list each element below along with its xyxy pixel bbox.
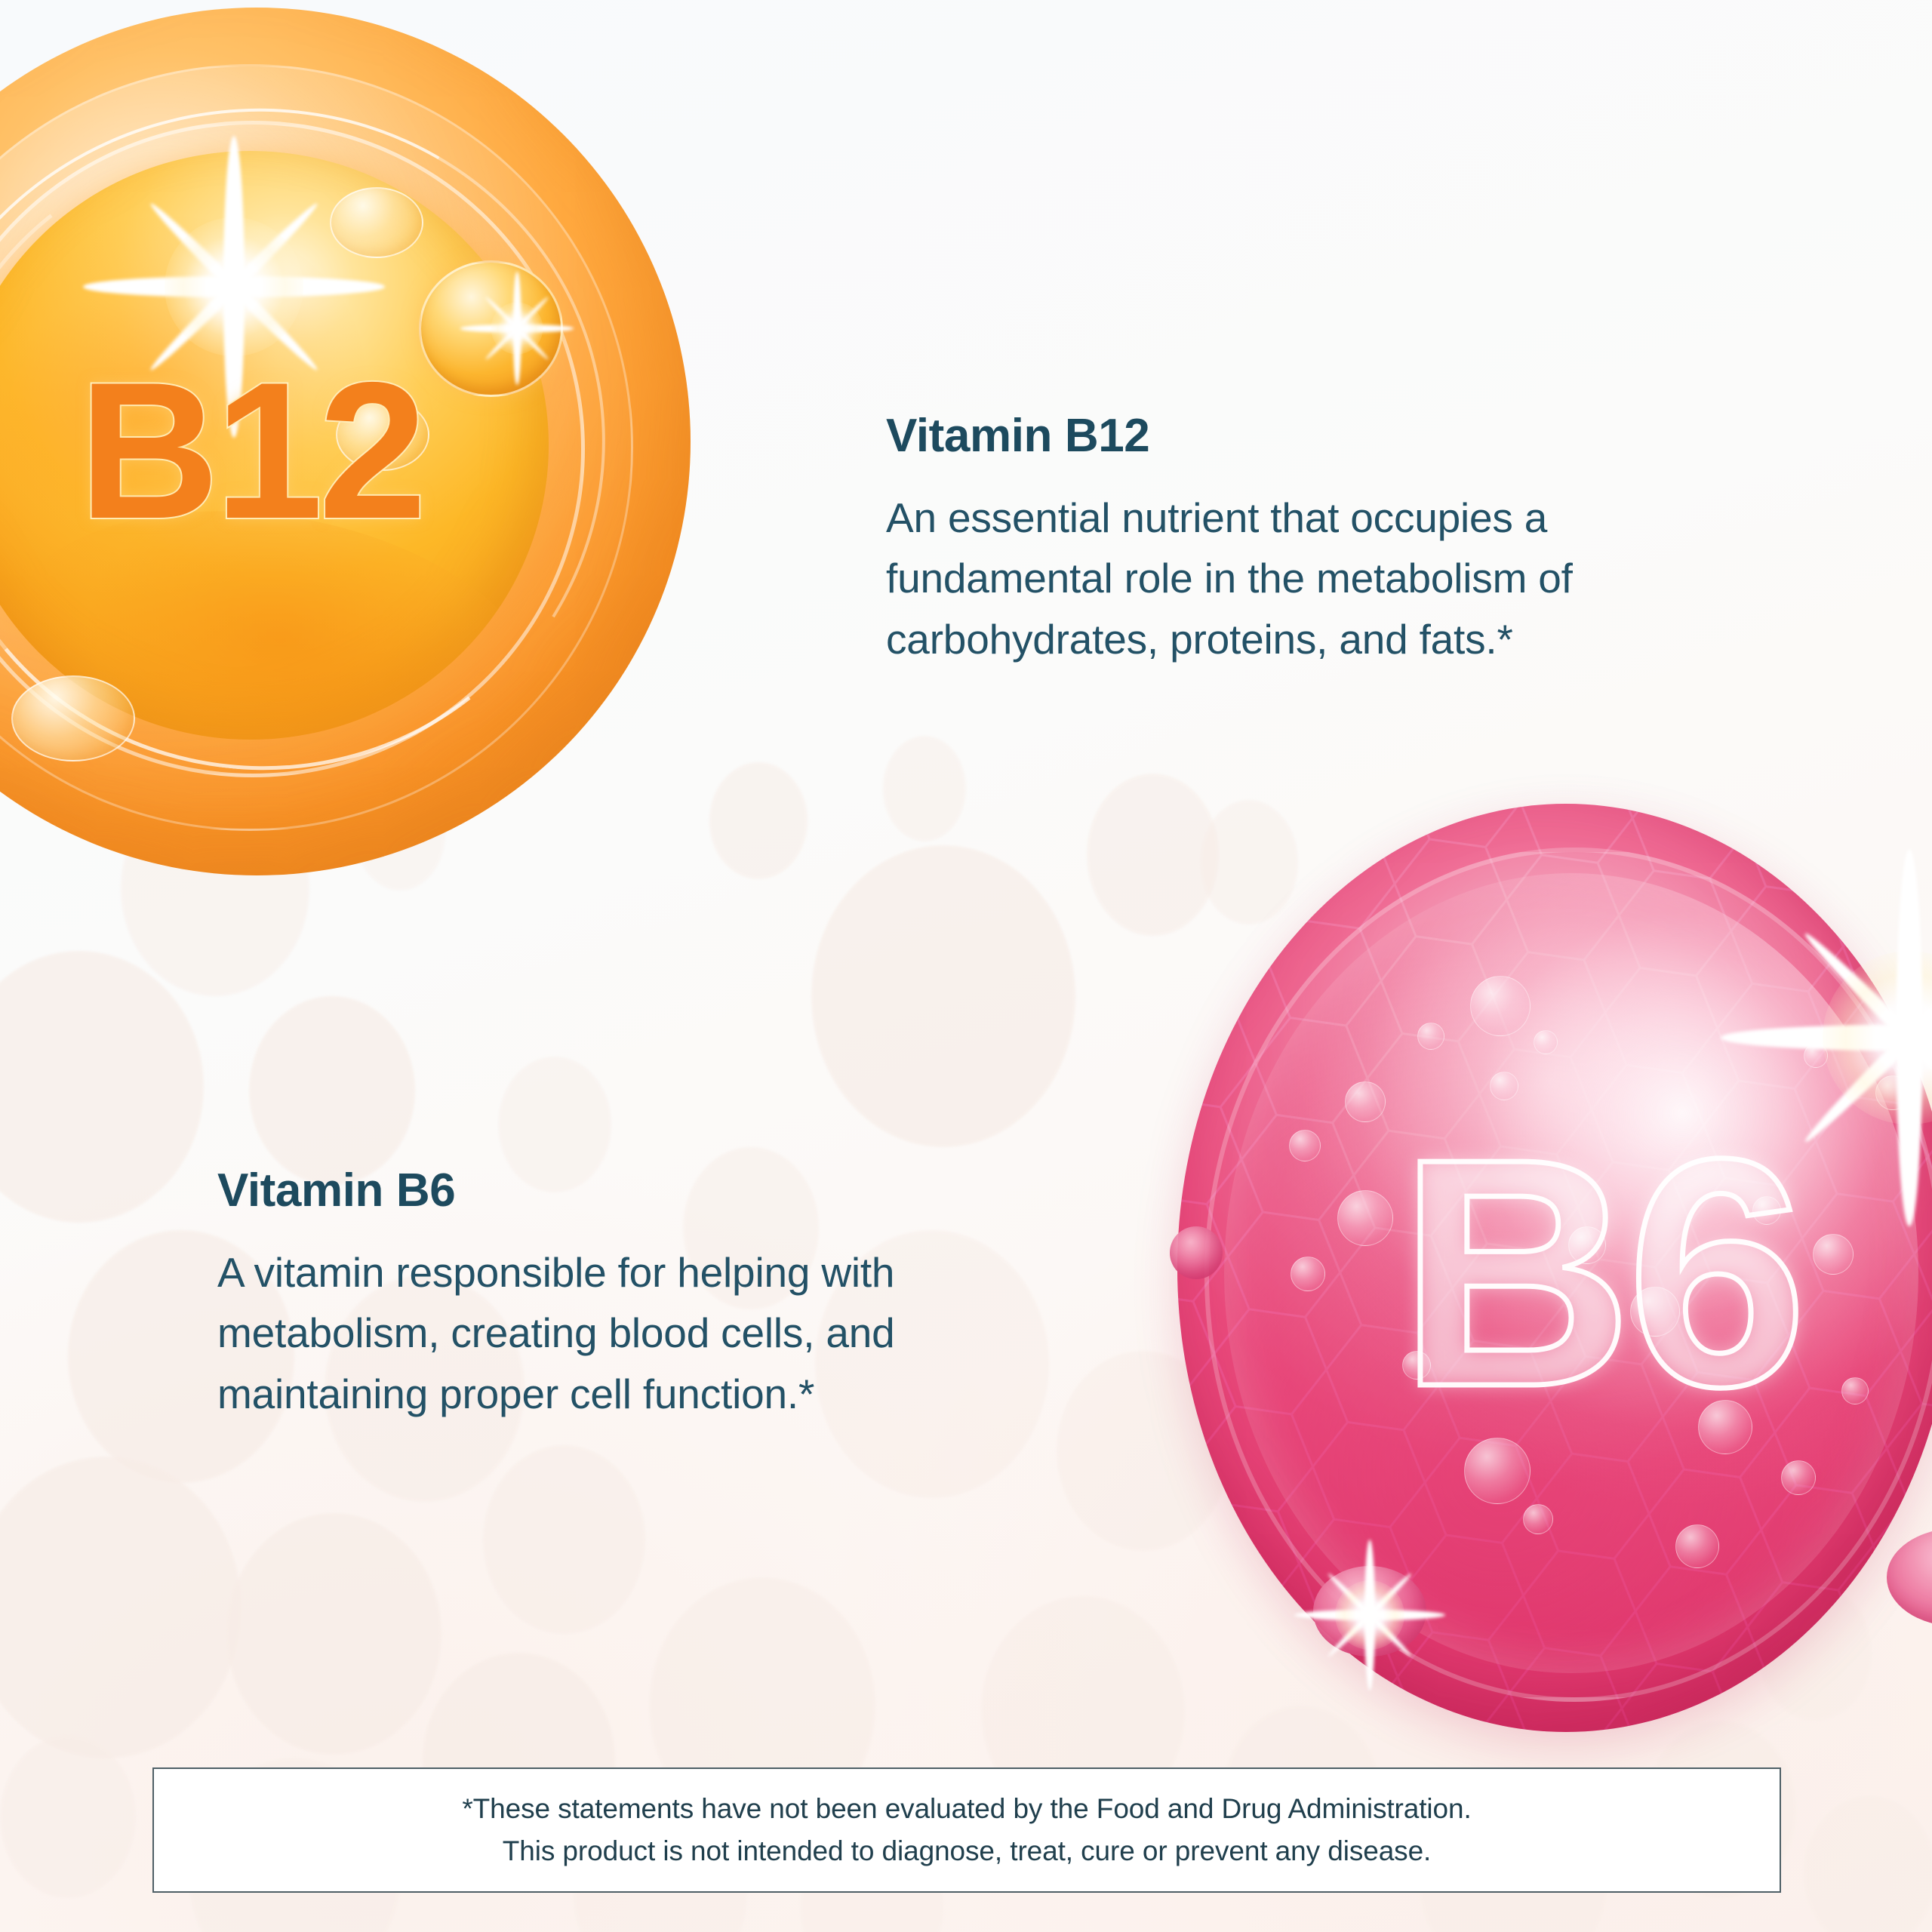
- disclaimer-line-1: *These statements have not been evaluate…: [462, 1788, 1471, 1830]
- vitamin-b6-heading: Vitamin B6: [217, 1166, 1032, 1217]
- vitamin-b12-text-block: Vitamin B12 An essential nutrient that o…: [886, 411, 1724, 669]
- b6-lobe-left: [1170, 1226, 1223, 1279]
- vitamin-b6-sphere-graphic: B6: [1177, 804, 1932, 1747]
- vitamin-b6-text-block: Vitamin B6 A vitamin responsible for hel…: [217, 1166, 1032, 1424]
- vitamin-b12-description: An essential nutrient that occupies a fu…: [886, 488, 1724, 669]
- b6-badge-label: B6: [1253, 873, 1932, 1673]
- vitamin-b12-sphere-graphic: B12: [0, 0, 691, 974]
- vitamin-b6-description: A vitamin responsible for helping with m…: [217, 1242, 1032, 1424]
- vitamin-b12-heading: Vitamin B12: [886, 411, 1724, 462]
- b12-badge-label: B12: [0, 155, 549, 744]
- fda-disclaimer-box: *These statements have not been evaluate…: [152, 1767, 1781, 1893]
- vitamin-infographic: B12: [0, 0, 1932, 1932]
- disclaimer-line-2: This product is not intended to diagnose…: [503, 1830, 1431, 1872]
